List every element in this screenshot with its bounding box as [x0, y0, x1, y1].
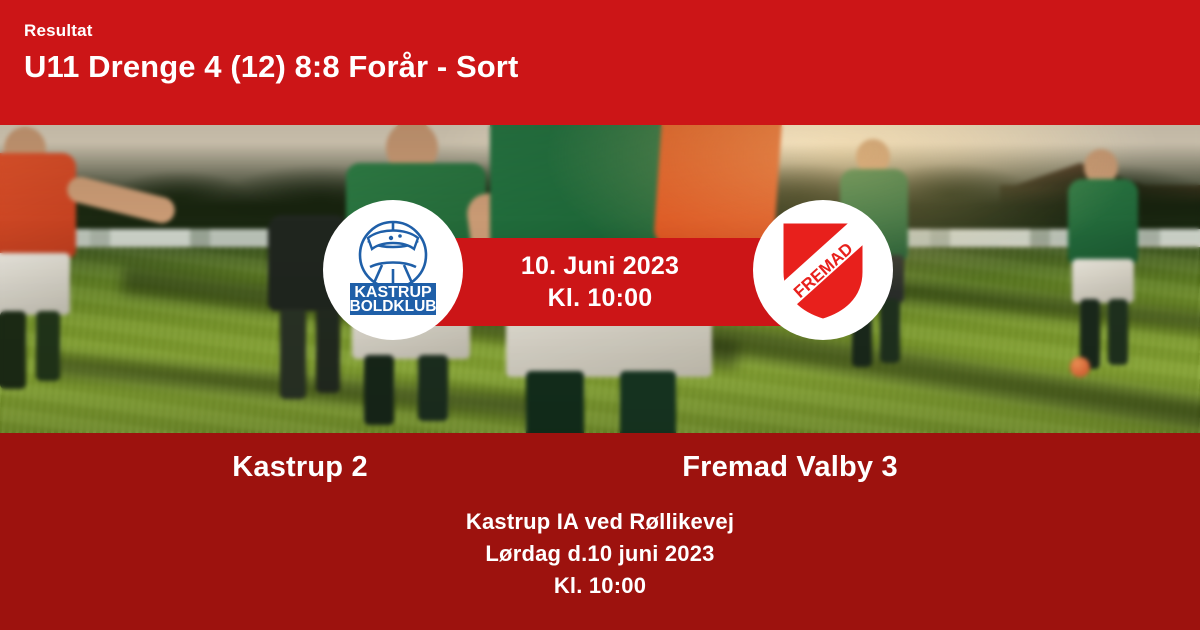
card-header: Resultat U11 Drenge 4 (12) 8:8 Forår - S… [0, 0, 1200, 125]
venue-location: Kastrup IA ved Røllikevej [0, 506, 1200, 538]
photo-player [1050, 155, 1160, 365]
page-title: U11 Drenge 4 (12) 8:8 Forår - Sort [24, 48, 1176, 86]
match-details-section: Kastrup 2 Fremad Valby 3 Kastrup IA ved … [0, 433, 1200, 630]
away-team-name: Fremad Valby 3 [560, 451, 1020, 484]
away-club-logo: FREMAD [753, 200, 893, 340]
fremad-valby-icon: FREMAD [769, 214, 877, 326]
photo-ball [1070, 357, 1090, 377]
kastrup-boldklub-icon: KASTRUP BOLDKLUB [334, 211, 452, 329]
match-date: 10. Juni 2023 [521, 250, 679, 282]
venue-time: Kl. 10:00 [0, 570, 1200, 602]
home-logo-text-bottom: BOLDKLUB [350, 298, 437, 315]
team-names-row: Kastrup 2 Fremad Valby 3 [0, 451, 1200, 484]
photo-player [0, 135, 120, 385]
match-time: Kl. 10:00 [548, 282, 653, 314]
home-club-logo: KASTRUP BOLDKLUB [323, 200, 463, 340]
home-team-name: Kastrup 2 [70, 451, 530, 484]
result-kicker: Resultat [24, 20, 1176, 42]
match-result-card: Resultat U11 Drenge 4 (12) 8:8 Forår - S… [0, 0, 1200, 630]
venue-block: Kastrup IA ved Røllikevej Lørdag d.10 ju… [0, 506, 1200, 602]
venue-date: Lørdag d.10 juni 2023 [0, 538, 1200, 570]
